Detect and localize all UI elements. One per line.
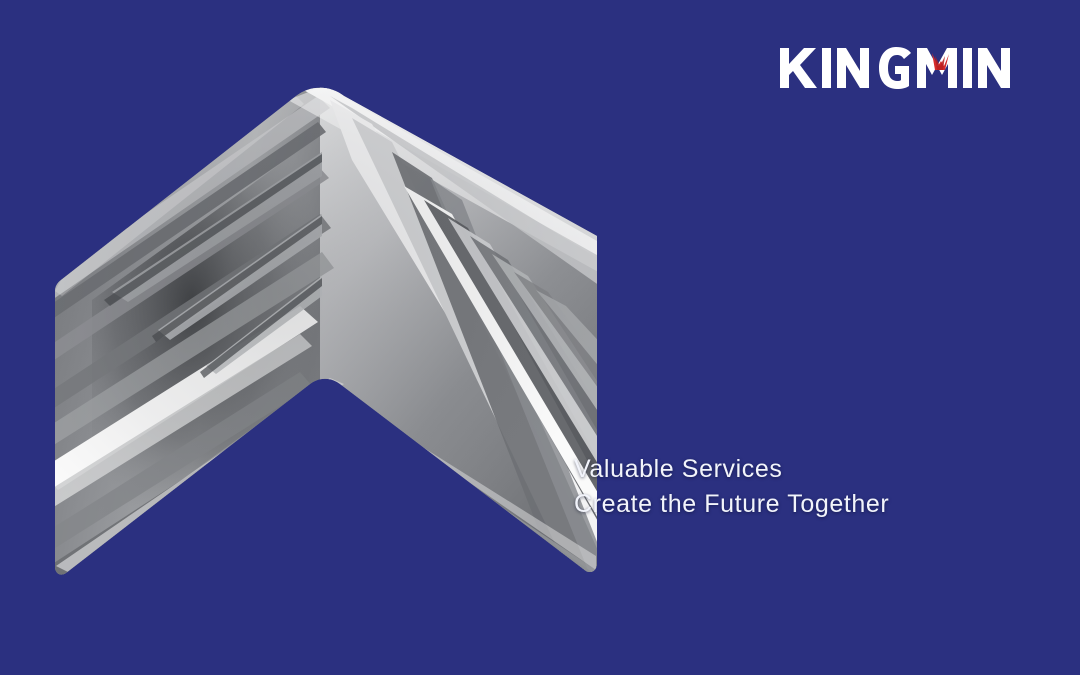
tagline-line-1: Valuable Services [574, 452, 1004, 487]
tagline: Valuable Services Create the Future Toge… [574, 452, 1004, 522]
chevron-metal-canopy-photo [0, 0, 1080, 675]
slide-canvas: Valuable Services Create the Future Toge… [0, 0, 1080, 675]
kingming-logo-wordmark [778, 44, 1020, 92]
kingming-logo [778, 44, 1020, 92]
tagline-line-2: Create the Future Together [574, 487, 1004, 522]
